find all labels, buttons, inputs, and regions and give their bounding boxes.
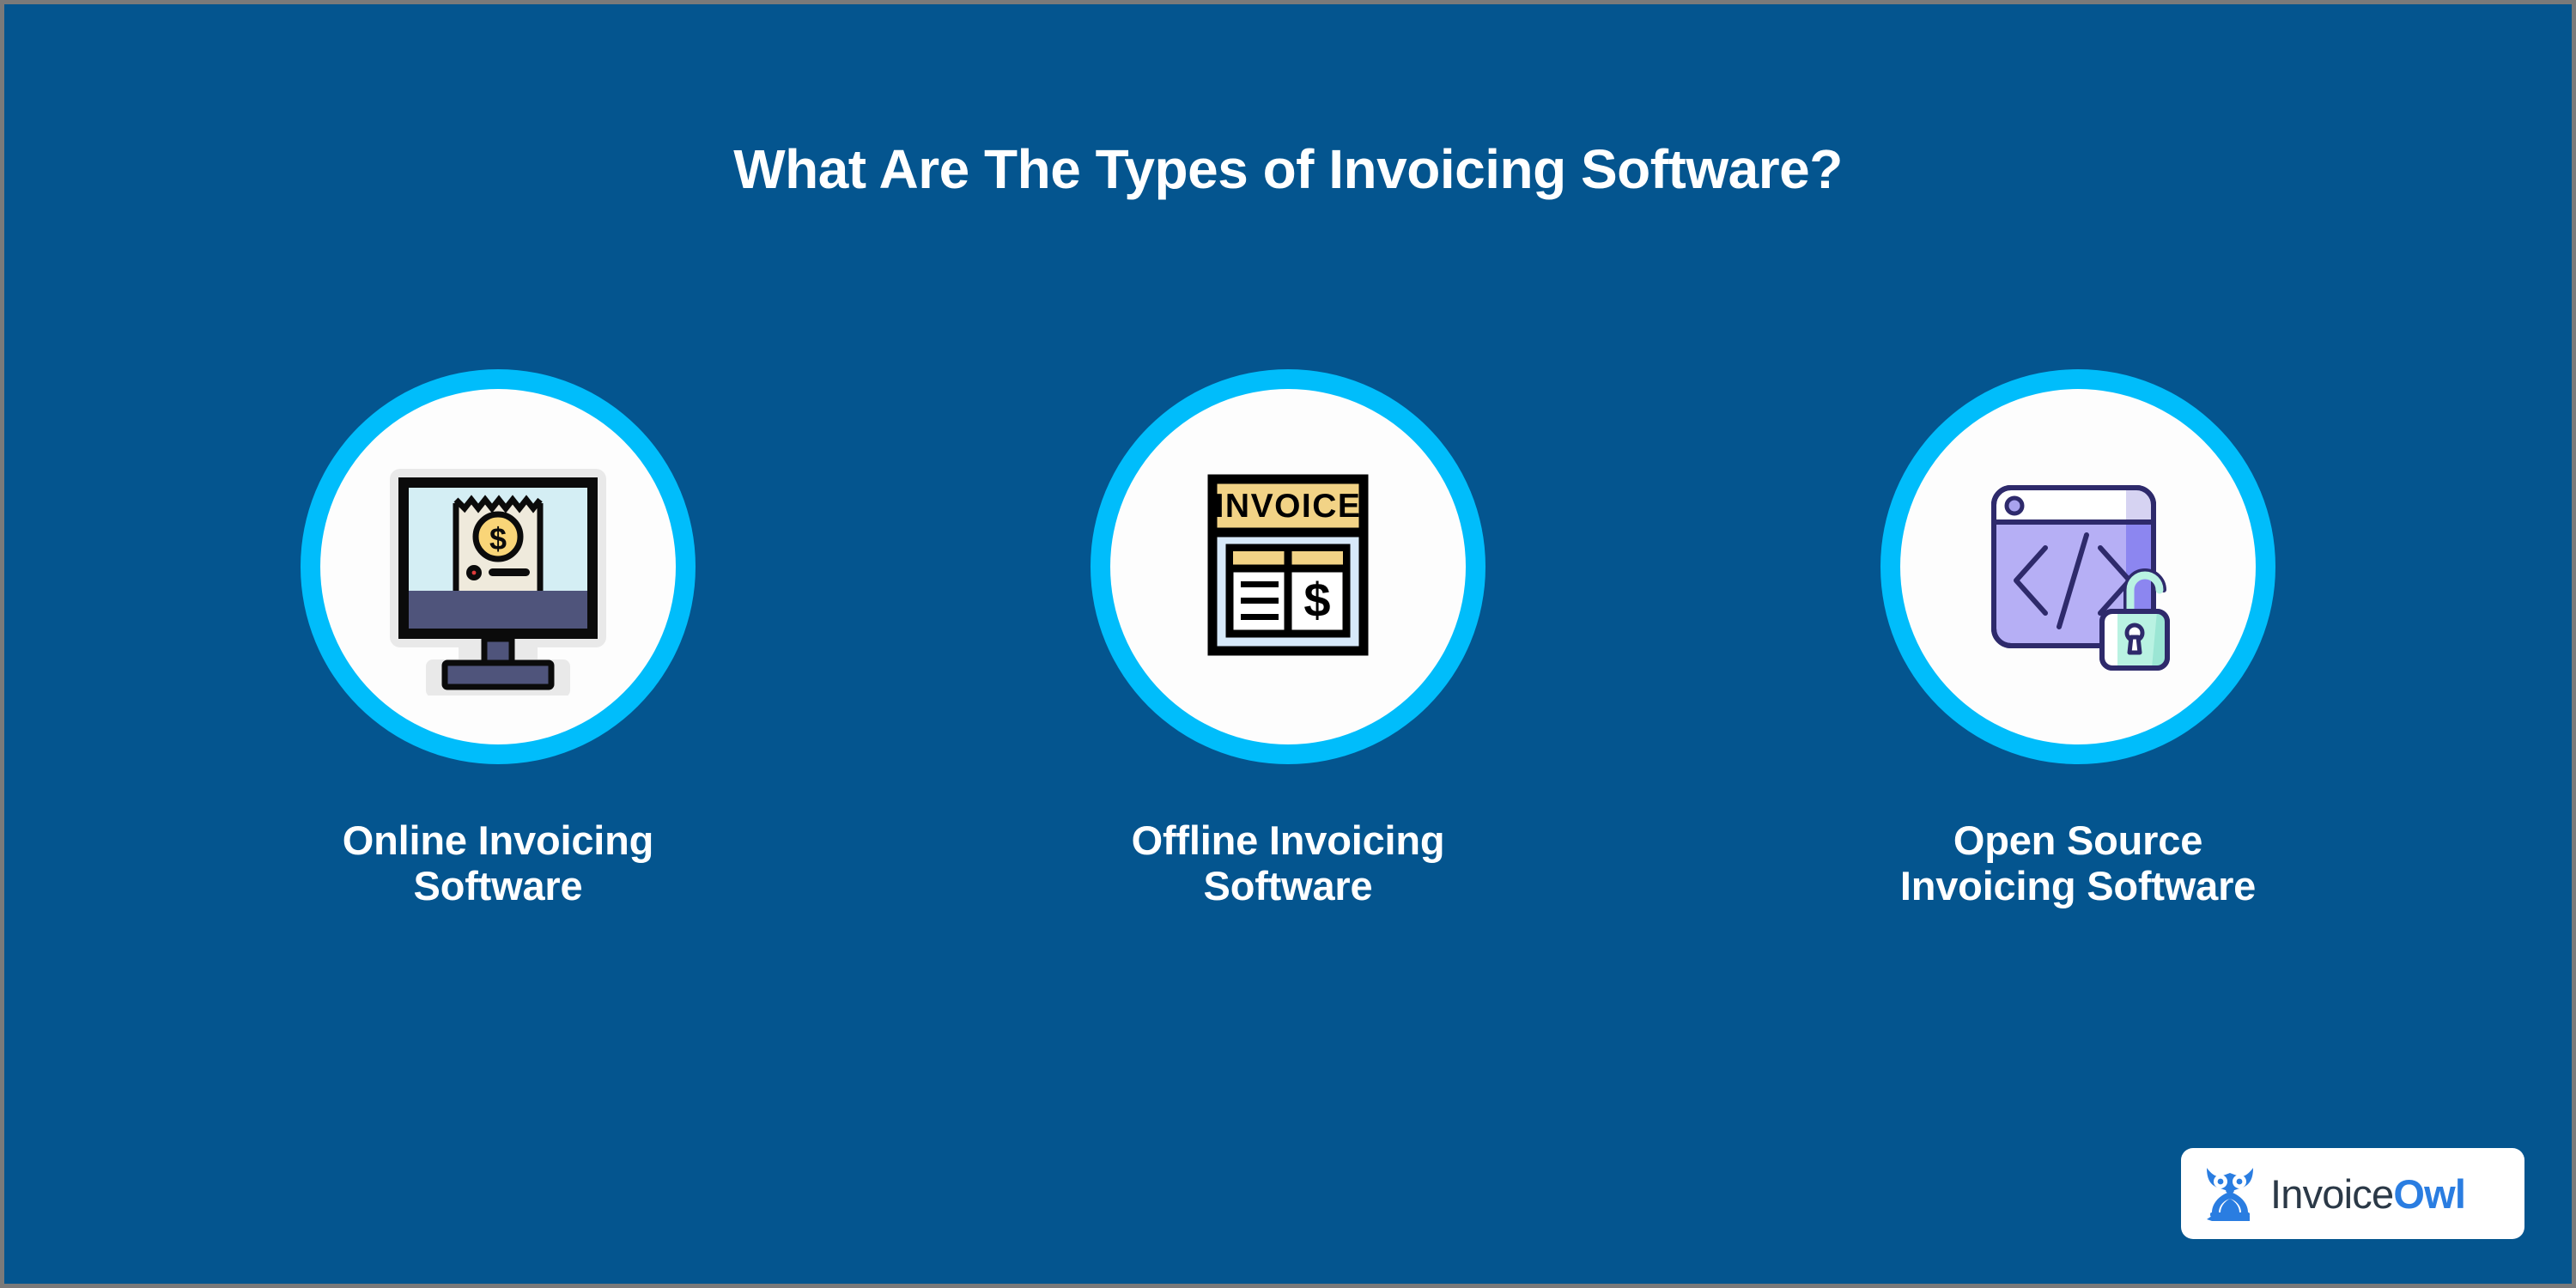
- owl-logo-icon: [2202, 1163, 2258, 1224]
- card-label-line-2: Invoicing Software: [1900, 863, 2256, 908]
- cards-row: $ Online Invoicing Software: [4, 369, 2572, 908]
- infographic-canvas: What Are The Types of Invoicing Software…: [4, 4, 2572, 1284]
- icon-circle: [1880, 369, 2275, 764]
- currency-symbol: $: [1303, 573, 1330, 627]
- card-label-line-2: Software: [343, 863, 653, 908]
- logo-text-accent: Owl: [2393, 1171, 2465, 1217]
- online-invoicing-monitor-icon: $: [369, 438, 627, 696]
- card-label-line-1: Open Source: [1900, 817, 2256, 863]
- page-title: What Are The Types of Invoicing Software…: [4, 137, 2572, 201]
- icon-circle-inner: [1900, 389, 2256, 744]
- card-online-invoicing[interactable]: $ Online Invoicing Software: [103, 369, 893, 908]
- icon-circle-inner: $: [320, 389, 676, 744]
- card-label: Open Source Invoicing Software: [1900, 817, 2256, 908]
- logo-text-primary: Invoice: [2270, 1171, 2393, 1217]
- invoice-header-text: INVOICE: [1215, 488, 1362, 525]
- invoice-owl-logo-badge[interactable]: InvoiceOwl: [2181, 1148, 2524, 1239]
- card-label-line-2: Software: [1132, 863, 1445, 908]
- icon-circle-inner: INVOICE $: [1110, 389, 1466, 744]
- card-label: Online Invoicing Software: [343, 817, 653, 908]
- icon-circle: INVOICE $: [1091, 369, 1485, 764]
- card-open-source-invoicing[interactable]: Open Source Invoicing Software: [1683, 369, 2473, 908]
- card-label-line-1: Online Invoicing: [343, 817, 653, 863]
- svg-text:$: $: [489, 521, 507, 556]
- card-offline-invoicing[interactable]: INVOICE $: [893, 369, 1683, 908]
- card-label-line-1: Offline Invoicing: [1132, 817, 1445, 863]
- icon-circle: $: [301, 369, 696, 764]
- card-label: Offline Invoicing Software: [1132, 817, 1445, 908]
- open-source-code-window-icon: [1949, 438, 2207, 696]
- logo-wordmark: InvoiceOwl: [2270, 1170, 2465, 1218]
- offline-invoicing-document-icon: INVOICE $: [1159, 438, 1417, 696]
